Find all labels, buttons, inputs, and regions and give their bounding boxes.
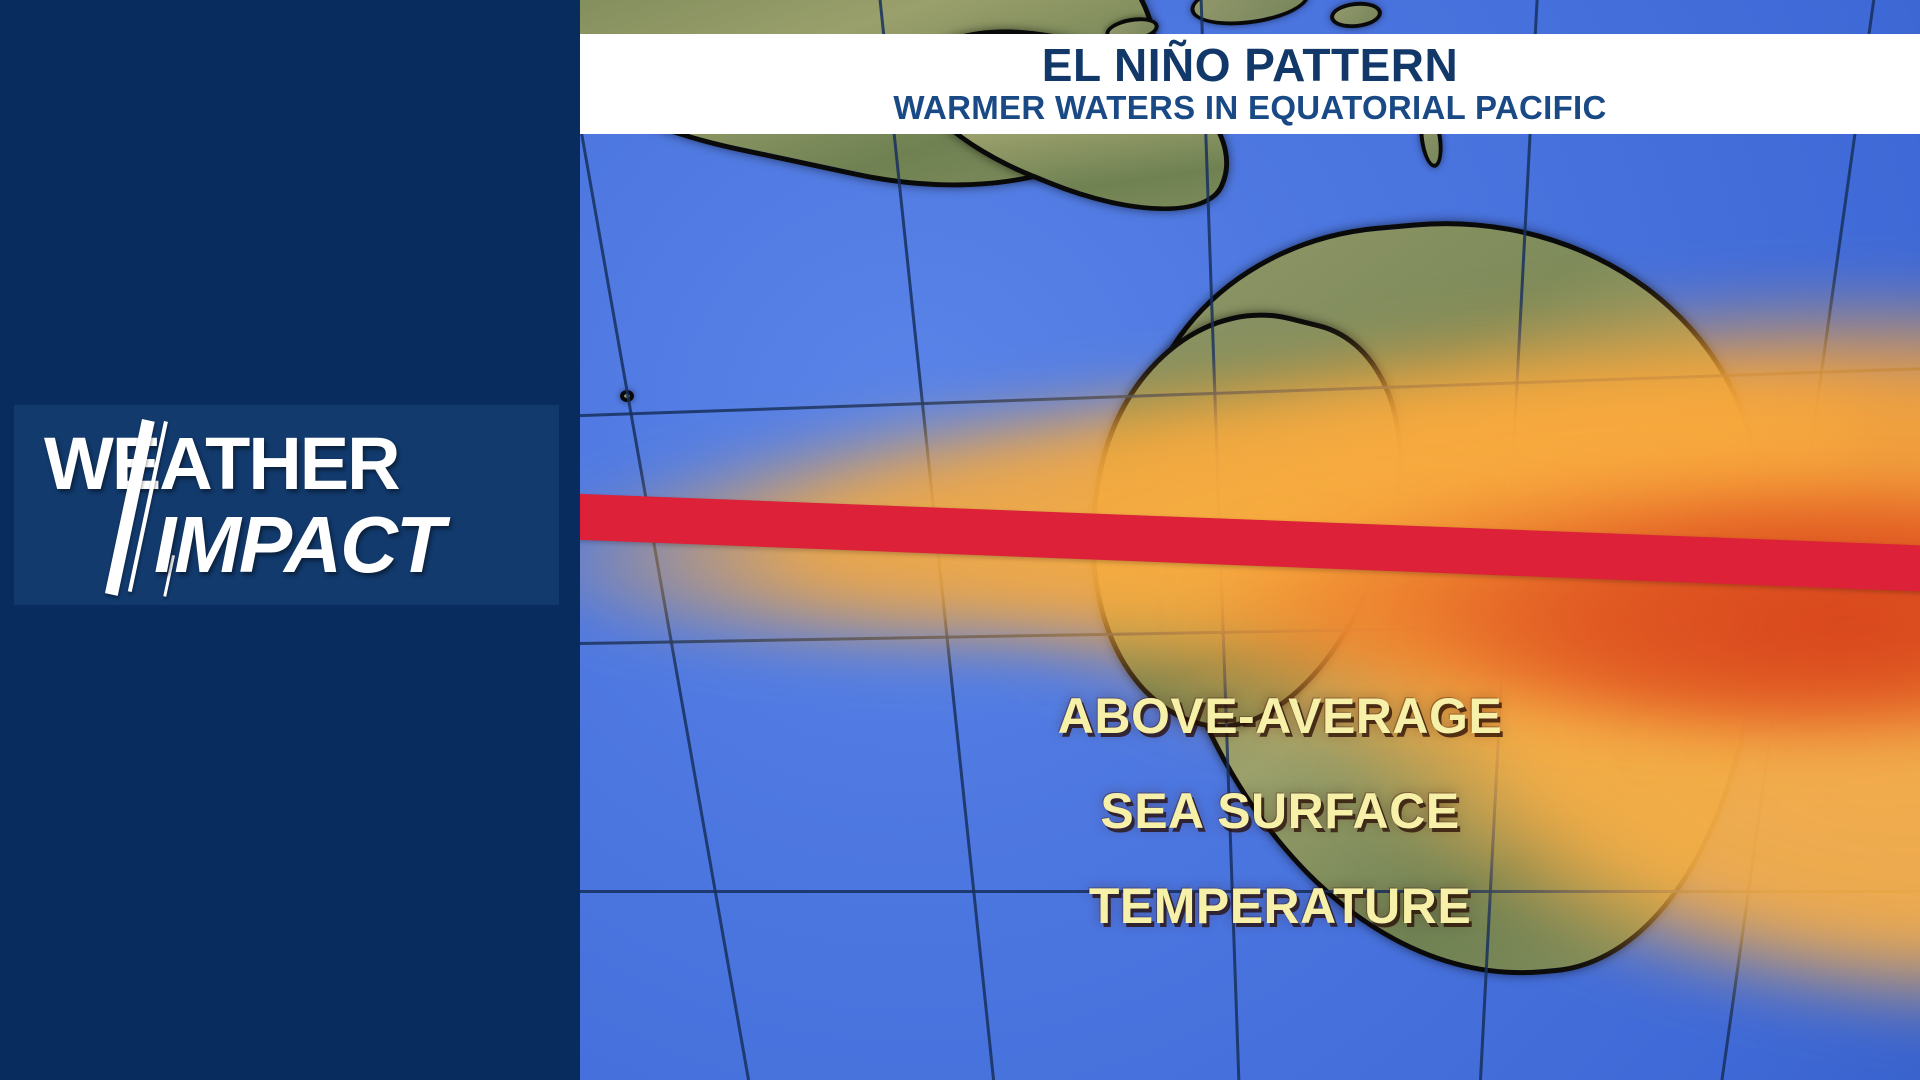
title-banner: EL NIÑO PATTERN WARMER WATERS IN EQUATOR… [580, 34, 1920, 134]
island-puerto-rico [1329, 0, 1383, 31]
sst-callout-line-1: ABOVE-AVERAGE [910, 693, 1650, 741]
globe-map: ABOVE-AVERAGE SEA SURFACE TEMPERATURE [580, 0, 1920, 1080]
sst-callout-label: ABOVE-AVERAGE SEA SURFACE TEMPERATURE [910, 645, 1650, 978]
logo-word-impact: IMPACT [154, 505, 443, 585]
logo-word-weather: WEATHER [44, 427, 399, 501]
island-galapagos [620, 390, 634, 402]
brand-panel: WEATHER IMPACT [0, 0, 580, 1080]
page-title: EL NIÑO PATTERN [1042, 42, 1458, 90]
sst-callout-line-2: SEA SURFACE [910, 788, 1650, 836]
weather-impact-logo: WEATHER IMPACT [14, 405, 559, 605]
logo-plate: WEATHER IMPACT [14, 405, 559, 605]
island-hispaniola [1188, 0, 1313, 32]
page-subtitle: WARMER WATERS IN EQUATORIAL PACIFIC [893, 91, 1606, 126]
sst-callout-line-3: TEMPERATURE [910, 883, 1650, 931]
weather-graphic-stage: WEATHER IMPACT [0, 0, 1920, 1080]
